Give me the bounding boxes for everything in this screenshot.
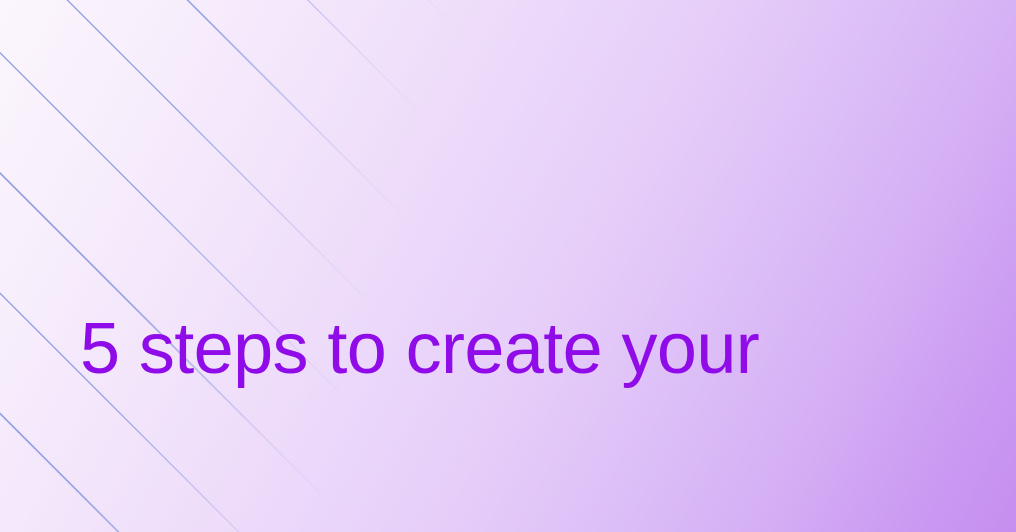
hero-banner: 5 steps to create your own conversationa… (0, 0, 1016, 532)
page-title: 5 steps to create your own conversationa… (80, 124, 880, 532)
headline-line-1: 5 steps to create your (80, 304, 880, 394)
